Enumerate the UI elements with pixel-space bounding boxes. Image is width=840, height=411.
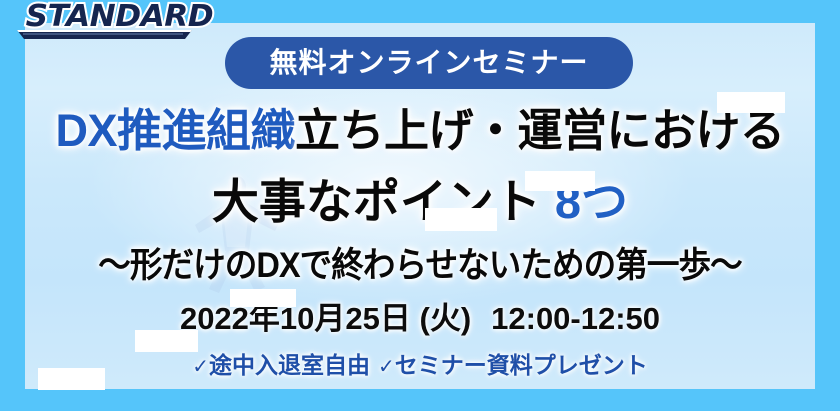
occlusion-patch xyxy=(425,208,497,231)
headline-line-2: 大事なポイント8つ xyxy=(0,178,840,225)
occlusion-patch xyxy=(230,289,296,307)
free-seminar-badge: 無料オンラインセミナー xyxy=(225,37,633,89)
occlusion-patch xyxy=(525,171,595,191)
brand-logo-text: STANDARD xyxy=(8,2,206,32)
brand-logo-rule xyxy=(17,30,192,39)
schedule-time: 12:00-12:50 xyxy=(491,301,660,336)
perk-label-2: セミナー資料プレゼント xyxy=(395,352,648,378)
schedule-line: 2022年10月25日 (火)12:00-12:50 xyxy=(0,303,840,334)
occlusion-patch xyxy=(38,368,105,390)
free-seminar-badge-label: 無料オンラインセミナー xyxy=(269,49,588,77)
perk-check-icon-2: ✓ xyxy=(378,356,395,378)
headline-line-1-rest: 立ち上げ・運営における xyxy=(295,105,785,156)
schedule-date: 2022年10月25日 (火) xyxy=(180,301,471,336)
headline-line-1: DX推進組織立ち上げ・運営における xyxy=(0,108,840,153)
perk-label-1: 途中入退室自由 xyxy=(209,352,370,378)
occlusion-patch xyxy=(135,330,198,352)
brand-logo-rule-highlight xyxy=(23,33,183,35)
brand-logo: STANDARD xyxy=(8,2,198,38)
perk-check-icon-1: ✓ xyxy=(192,356,209,378)
headline-line-3: 〜形だけのDXで終わらせないための第一歩〜 xyxy=(0,248,840,283)
seminar-banner: STANDARD 無料オンラインセミナー DX推進組織立ち上げ・運営における 大… xyxy=(0,0,840,411)
occlusion-patch xyxy=(717,92,785,113)
headline-line-1-highlight: DX推進組織 xyxy=(55,105,295,156)
headline-line-3-text: 〜形だけのDXで終わらせないための第一歩〜 xyxy=(98,248,742,283)
perks-line: ✓途中入退室自由✓セミナー資料プレゼント xyxy=(0,354,840,377)
